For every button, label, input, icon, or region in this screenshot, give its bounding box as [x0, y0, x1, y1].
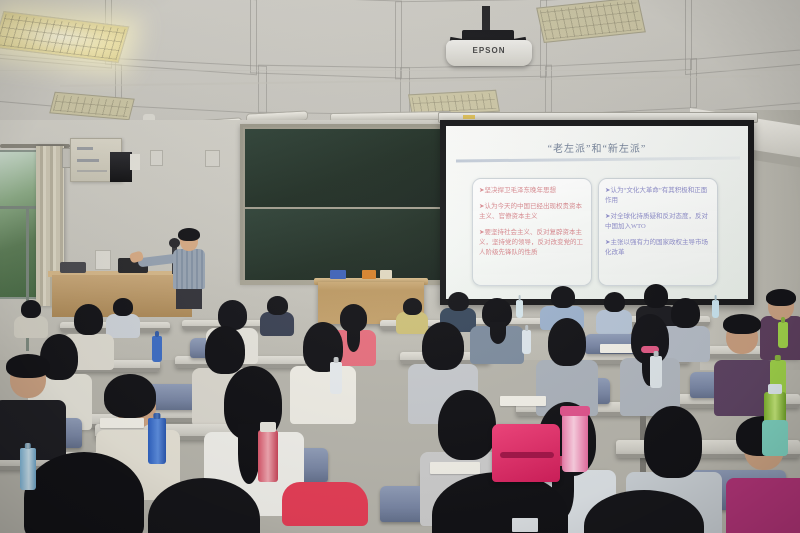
phone-screen — [512, 518, 538, 532]
water-bottle — [152, 336, 162, 362]
desk-equipment — [60, 262, 86, 273]
water-bottle-blue — [148, 418, 166, 464]
lecturer-legs — [176, 287, 202, 309]
projection-screen: “老左派”和“新左派” ➤坚决捍卫毛泽东晚年思想 ➤认为今天的中国已经出现权贵资… — [440, 120, 754, 305]
teal-bottle — [258, 430, 278, 482]
projector: EPSON — [440, 6, 550, 68]
student — [470, 300, 524, 362]
chalk-box — [362, 270, 376, 279]
blackboard — [240, 124, 460, 282]
slide-left-box: ➤坚决捍卫毛泽东晚年思想 ➤认为今天的中国已经出现权贵资本主义、官僚资本主义 ➤… — [472, 178, 592, 286]
slide-left-bullet-1: ➤坚决捍卫毛泽东晚年思想 — [479, 186, 585, 196]
water-bottle — [522, 330, 531, 354]
student — [584, 490, 704, 533]
student — [0, 356, 66, 456]
backpack-strap — [500, 452, 554, 458]
lecturer-torso — [173, 249, 205, 289]
water-bottle — [330, 362, 342, 394]
student-lower-body — [282, 482, 368, 526]
water-bottle-clear — [20, 448, 36, 490]
student — [260, 296, 294, 334]
water-bottle — [650, 356, 662, 388]
slide-left-bullet-3: ➤要坚持社会主义、反对复辟资本主义，坚持党的领导，反对改变党的工人阶级先锋队的性… — [479, 228, 585, 258]
slide-title-rule — [456, 157, 740, 163]
lecturer-hair — [178, 228, 200, 241]
notebook — [100, 418, 144, 428]
projector-body: EPSON — [446, 40, 532, 66]
projector-pole — [482, 6, 490, 32]
lecturer — [160, 230, 220, 308]
wall-equipment-box — [110, 152, 132, 182]
mint-cup — [762, 420, 788, 456]
chalk-box — [330, 270, 346, 279]
student — [24, 452, 144, 533]
green-bottle-cap — [768, 384, 782, 394]
slide-right-box: ➤认为“文化大革命”有其积极和正面作用 ➤对全球化持质疑和反对态度，反对中国加入… — [598, 178, 718, 286]
student — [148, 478, 260, 533]
slide-left-bullet-2: ➤认为今天的中国已经出现权贵资本主义、官僚资本主义 — [479, 202, 585, 222]
wall-socket — [95, 250, 111, 270]
chalk-box — [380, 270, 392, 279]
classroom-photo: EPSON “老左派”和“新左派” ➤坚决捍卫毛泽东晚年思想 — [0, 0, 800, 533]
pink-thermos — [562, 414, 588, 472]
student — [14, 300, 48, 336]
pink-thermos-lid — [560, 406, 590, 416]
notebook — [430, 462, 480, 474]
water-bottle — [712, 300, 719, 318]
slide-title: “老左派”和“新左派” — [446, 140, 748, 155]
presentation-slide: “老左派”和“新左派” ➤坚决捍卫毛泽东晚年思想 ➤认为今天的中国已经出现权贵资… — [446, 126, 748, 299]
projector-brand-label: EPSON — [446, 46, 532, 55]
slide-right-bullet-3: ➤主张以强有力的国家政权主导市场化改革 — [605, 238, 711, 258]
slide-right-bullet-2: ➤对全球化持质疑和反对态度，反对中国加入WTO — [605, 212, 711, 232]
light-switch[interactable] — [150, 150, 163, 166]
wall-panel — [205, 150, 220, 167]
teal-bottle-cap — [260, 422, 276, 432]
water-bottle — [778, 322, 788, 348]
slide-right-bullet-1: ➤认为“文化大革命”有其积极和正面作用 — [605, 186, 711, 206]
